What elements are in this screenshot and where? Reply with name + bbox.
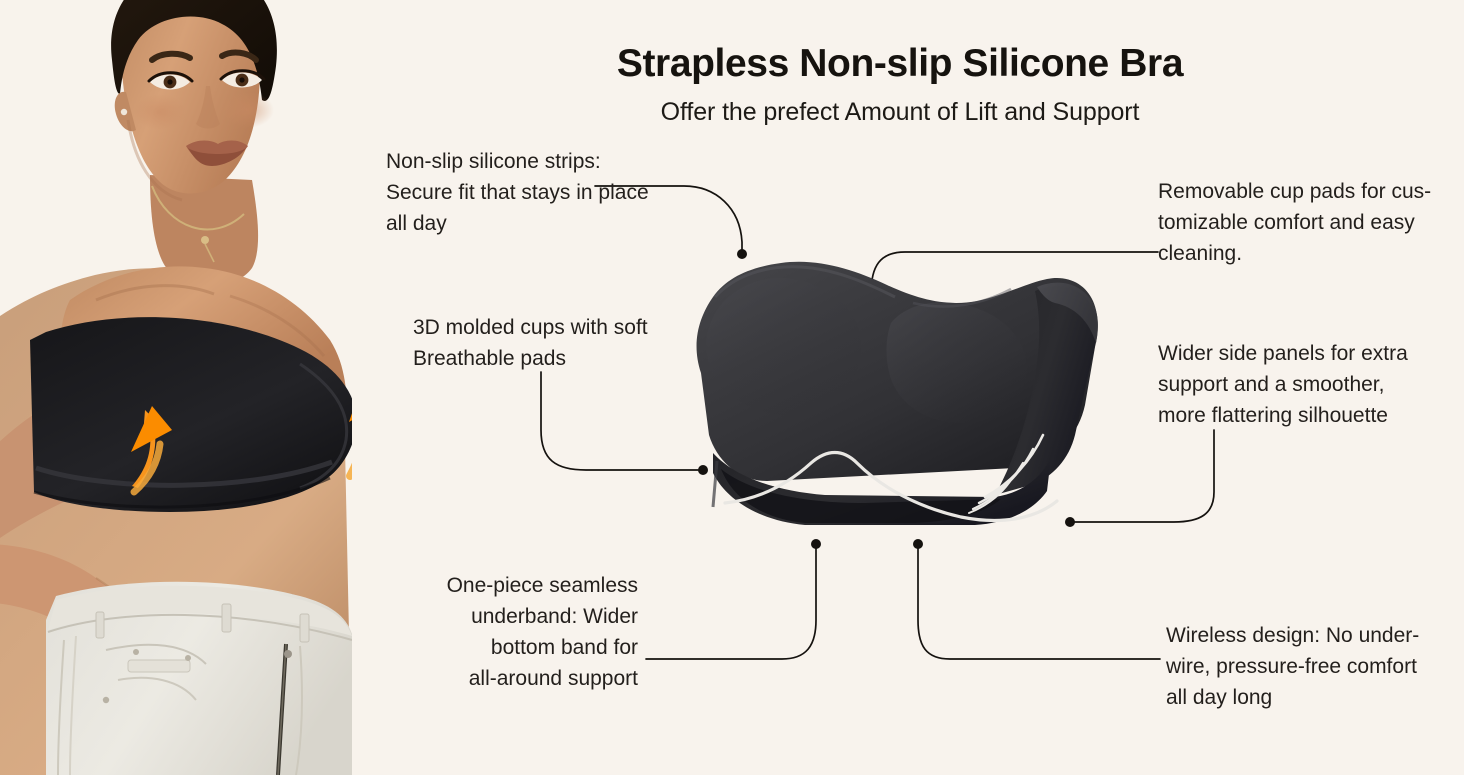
callout-line: wire, pressure-free comfort	[1166, 651, 1446, 682]
callout-wider-side-panels: Wider side panels for extra support and …	[1158, 338, 1448, 431]
page-subtitle: Offer the prefect Amount of Lift and Sup…	[560, 98, 1240, 127]
callout-line: Breathable pads	[413, 343, 673, 374]
callout-removable-pads: Removable cup pads for cus- tomizable co…	[1158, 176, 1448, 269]
model-photo-illustration	[0, 0, 380, 775]
callout-line: Removable cup pads for cus-	[1158, 176, 1448, 207]
callout-line: Wireless design: No under-	[1166, 620, 1446, 651]
callout-non-slip-strips: Non-slip silicone strips: Secure fit tha…	[386, 146, 676, 239]
callout-line: Non-slip silicone strips:	[386, 146, 676, 177]
callout-line: all day long	[1166, 682, 1446, 713]
callout-seamless-underband: One-piece seamless underband: Wider bott…	[415, 570, 638, 694]
callout-line: 3D molded cups with soft	[413, 312, 673, 343]
infographic-canvas: Strapless Non-slip Silicone Bra Offer th…	[0, 0, 1464, 775]
callout-line: Secure fit that stays in place	[386, 177, 676, 208]
callout-line: One-piece seamless	[415, 570, 638, 601]
callout-molded-cups: 3D molded cups with soft Breathable pads	[413, 312, 673, 374]
callout-line: tomizable comfort and easy	[1158, 207, 1448, 238]
product-image	[655, 245, 1175, 565]
callout-line: bottom band for	[415, 632, 638, 663]
callout-line: all-around support	[415, 663, 638, 694]
page-title: Strapless Non-slip Silicone Bra	[560, 42, 1240, 86]
callout-line: cleaning.	[1158, 238, 1448, 269]
callout-line: Wider side panels for extra	[1158, 338, 1448, 369]
callout-line: more flattering silhouette	[1158, 400, 1448, 431]
callout-line: all day	[386, 208, 676, 239]
callout-wireless-design: Wireless design: No under- wire, pressur…	[1166, 620, 1446, 713]
model-photo	[0, 0, 380, 775]
callout-line: underband: Wider	[415, 601, 638, 632]
callout-line: support and a smoother,	[1158, 369, 1448, 400]
